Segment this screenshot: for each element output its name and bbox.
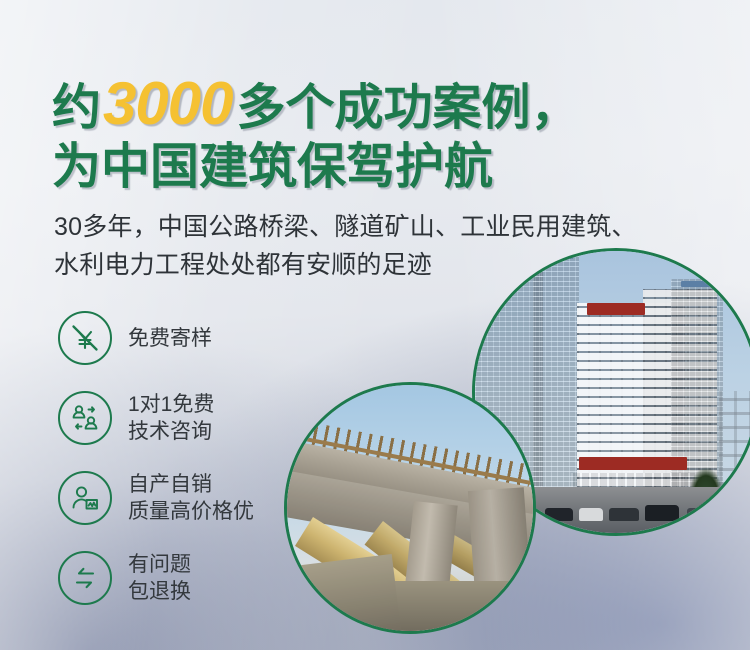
feature-text-line-2: 质量高价格优 [128,498,254,525]
swap-arrows-icon [58,551,112,605]
feature-text-line-2: 包退换 [128,578,191,605]
headline-block: 约3000多个成功案例， 为中国建筑保驾护航 [52,76,712,196]
feature-text-line-1: 有问题 [128,551,191,578]
ground-rubble [284,554,401,634]
bridge-photo-inner [287,385,533,631]
feature-text-line-1: 自产自销 [128,471,254,498]
feature-text: 1对1免费 技术咨询 [128,391,214,445]
headline-line-1: 约3000多个成功案例， [52,76,712,136]
feature-text: 自产自销 质量高价格优 [128,471,254,525]
promo-banner: 约3000多个成功案例， 为中国建筑保驾护航 30多年，中国公路桥梁、隧道矿山、… [0,0,750,650]
bridge-photo [284,382,536,634]
car [609,508,639,521]
headline-suffix: 多个成功案例， [237,81,580,135]
car [579,508,603,521]
car [545,508,573,521]
facade-sign-band [579,457,687,470]
feature-text-line-1: 免费寄样 [128,327,212,350]
feature-text-line-1: 1对1免费 [128,391,214,418]
no-fee-yuan-icon [58,311,112,365]
feature-text: 有问题 包退换 [128,551,191,605]
car [687,508,713,521]
feature-item-free-sample[interactable]: 免费寄样 [58,298,308,378]
feature-item-returns[interactable]: 有问题 包退换 [58,538,308,618]
headline-prefix: 约 [52,81,101,135]
subcopy-line-1: 30多年，中国公路桥梁、隧道矿山、工业民用建筑、 [54,208,734,246]
car [645,505,679,521]
headline-line-2: 为中国建筑保驾护航 [52,138,712,196]
feature-text: 免费寄样 [128,325,212,352]
tower-left-crown [539,253,573,259]
feature-item-one-on-one[interactable]: 1对1免费 技术咨询 [58,378,308,458]
person-chart-icon [58,471,112,525]
tower-right-crown [681,281,711,287]
two-people-exchange-icon [58,391,112,445]
rooftop-sign-upper [587,303,645,315]
headline-number: 3000 [101,70,236,137]
feature-list: 免费寄样 1对1免费 技术咨询 [58,298,308,618]
feature-text-line-2: 技术咨询 [128,418,214,445]
feature-item-self-produced[interactable]: 自产自销 质量高价格优 [58,458,308,538]
